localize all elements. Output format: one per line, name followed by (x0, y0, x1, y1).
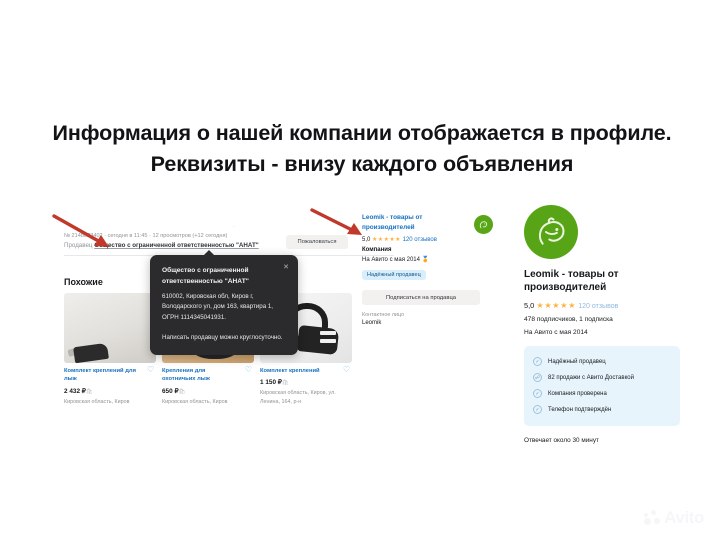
delivery-icon: 🛍 (179, 389, 186, 395)
trust-badge: Надёжный продавец (362, 270, 426, 280)
similar-heading: Похожие (64, 277, 103, 287)
profile-rating: 5,0 ★★★★★ 120 отзывов (524, 301, 684, 310)
page-title: Информация о нашей компании отображается… (38, 118, 686, 179)
badge-label: Компания проверена (548, 391, 607, 397)
product-name[interactable]: Крепления для охотничьих лыж (162, 367, 236, 384)
seller-account-type: Компания (362, 247, 482, 253)
medal-icon: 🏅 (422, 257, 429, 263)
product-name[interactable]: Комплект креплений для лыж (64, 367, 138, 384)
reviews-link[interactable]: 120 отзывов (578, 303, 618, 310)
profile-member-since: На Авито с мая 2014 (524, 329, 684, 336)
subscribe-button[interactable]: Подписаться на продавца (362, 290, 480, 305)
product-card[interactable]: ♡ Комплект креплений для лыж 2 432 ₽🛍 Ки… (64, 293, 156, 406)
avito-watermark: Avito (644, 508, 704, 528)
product-price: 1 150 ₽🛍 (260, 378, 352, 386)
embedded-screenshot: · № 2148873402 · сегодня в 11:45 · 12 пр… (58, 205, 688, 515)
badge-row: ✓ Надёжный продавец (533, 354, 671, 370)
tooltip-note: Написать продавцу можно круглосуточно. (162, 333, 286, 344)
favorite-icon[interactable]: ♡ (245, 366, 252, 374)
decorative-dot: · (233, 224, 235, 230)
stars-icon: ★★★★★ (536, 301, 576, 310)
seller-sidebar: Leomik - товары от производителей 5,0 ★★… (362, 213, 482, 326)
reviews-link[interactable]: 120 отзывов (403, 237, 437, 243)
check-circle-icon: ✓ (533, 357, 542, 366)
tooltip-address: 610002, Кировская обл, Киров г, Володарс… (162, 292, 286, 324)
product-name[interactable]: Комплект креплений (260, 367, 334, 375)
rating-value: 5,0 (524, 301, 534, 310)
arrow-pointing-to-seller-name (310, 208, 372, 240)
delivery-icon: 🛍 (282, 380, 289, 386)
profile-name: Leomik - товары от производителей (524, 268, 646, 295)
product-price: 2 432 ₽🛍 (64, 387, 156, 395)
delivery-box-icon: ☍ (533, 373, 542, 382)
favorite-icon[interactable]: ♡ (343, 366, 350, 374)
product-price: 650 ₽🛍 (162, 387, 254, 395)
member-since-text: На Авито с мая 2014 (362, 257, 420, 263)
price-value: 650 ₽ (162, 388, 179, 395)
price-value: 1 150 ₽ (260, 379, 282, 386)
badge-row: ☍ 82 продажи с Авито Доставкой (533, 370, 671, 386)
profile-avatar[interactable] (524, 205, 578, 259)
product-image (64, 293, 156, 363)
favorite-icon[interactable]: ♡ (147, 366, 154, 374)
close-icon[interactable]: ✕ (283, 264, 289, 271)
contact-person-label: Контактное лицо (362, 312, 482, 318)
delivery-icon: 🛍 (86, 389, 93, 395)
profile-subscribers: 478 подписчиков, 1 подписка (524, 316, 684, 323)
badge-label: 82 продажи с Авито Доставкой (548, 375, 634, 381)
check-circle-icon: ✓ (533, 389, 542, 398)
badge-label: Телефон подтверждён (548, 407, 611, 413)
tooltip-title: Общество с ограниченной ответственностью… (162, 266, 286, 288)
seller-sidebar-rating: 5,0 ★★★★★ 120 отзывов (362, 236, 482, 243)
badge-row: ✓ Компания проверена (533, 386, 671, 402)
profile-card: Leomik - товары от производителей 5,0 ★★… (524, 205, 684, 444)
product-location: Кировская область, Киров (64, 398, 150, 406)
seller-sidebar-name[interactable]: Leomik - товары от производителей (362, 213, 440, 232)
avito-logo-icon (644, 510, 661, 527)
product-location: Кировская область, Киров, ул. Ленина, 16… (260, 389, 346, 405)
slide-root: Информация о нашей компании отображается… (0, 0, 720, 540)
stars-icon: ★★★★★ (372, 237, 401, 243)
seller-member-since: На Авито с мая 2014 🏅 (362, 256, 482, 263)
product-location: Кировская область, Киров (162, 398, 248, 406)
badge-row: ✓ Телефон подтверждён (533, 402, 671, 418)
contact-person-value: Leomik (362, 320, 482, 326)
avatar[interactable] (474, 215, 493, 234)
watermark-text: Avito (664, 508, 704, 528)
company-details-tooltip: ✕ Общество с ограниченной ответственност… (150, 255, 298, 355)
profile-badges: ✓ Надёжный продавец ☍ 82 продажи с Авито… (524, 346, 680, 426)
price-value: 2 432 ₽ (64, 388, 86, 395)
reply-time: Отвечает около 30 минут (524, 437, 684, 444)
check-circle-icon: ✓ (533, 405, 542, 414)
badge-label: Надёжный продавец (548, 359, 606, 365)
arrow-pointing-to-seller-link (52, 214, 122, 252)
